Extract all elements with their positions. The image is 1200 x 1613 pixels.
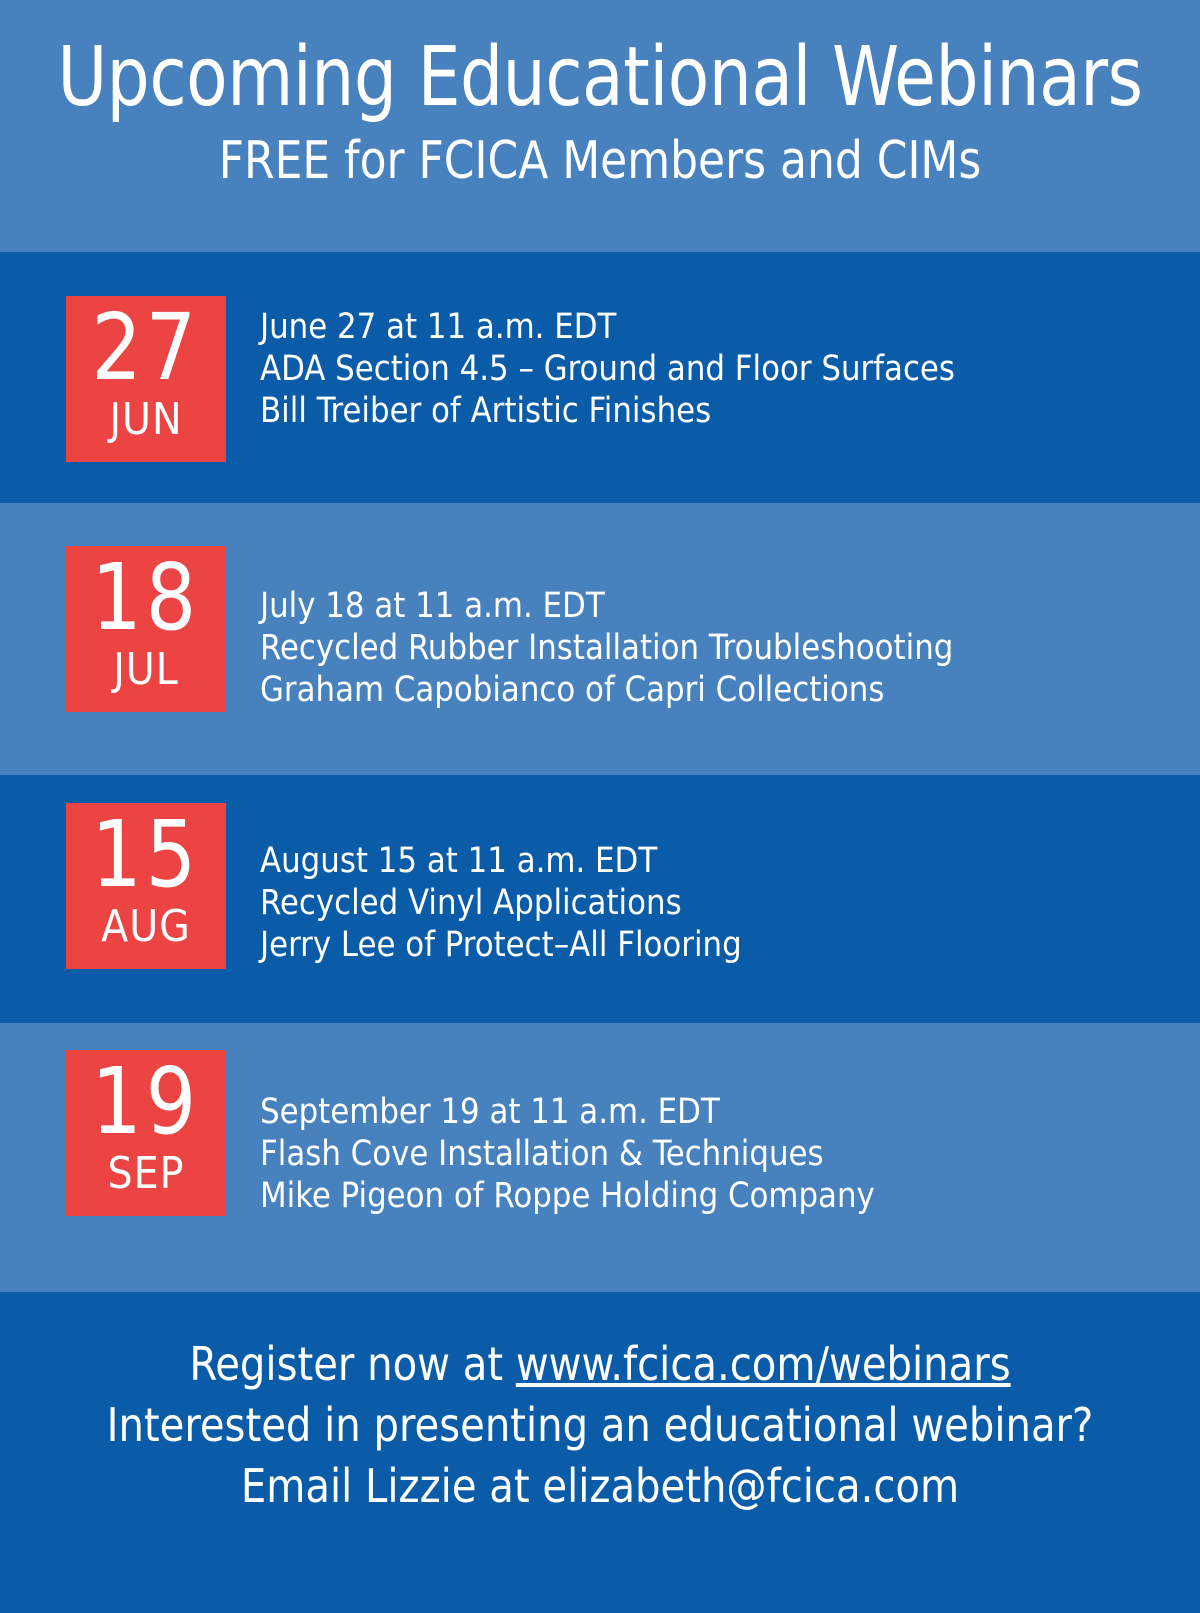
webinar-presenter: Jerry Lee of Protect–All Flooring <box>260 924 1162 966</box>
webinar-datetime: August 15 at 11 a.m. EDT <box>260 840 1162 882</box>
webinars-url-link[interactable]: www.fcica.com/webinars <box>516 1337 1011 1391</box>
date-day: 27 <box>92 302 201 394</box>
webinar-details: July 18 at 11 a.m. EDT Recycled Rubber I… <box>226 503 1200 711</box>
register-prefix: Register now at <box>189 1337 515 1391</box>
webinar-poster: Upcoming Educational Webinars FREE for F… <box>0 0 1200 1613</box>
webinar-topic: ADA Section 4.5 – Ground and Floor Surfa… <box>260 348 1162 390</box>
page-title: Upcoming Educational Webinars <box>48 36 1152 120</box>
date-month: JUL <box>113 648 179 692</box>
webinar-row[interactable]: 18 JUL July 18 at 11 a.m. EDT Recycled R… <box>0 503 1200 775</box>
date-month: SEP <box>107 1152 184 1196</box>
webinar-presenter: Mike Pigeon of Roppe Holding Company <box>260 1175 1162 1217</box>
date-month: AUG <box>101 905 191 949</box>
webinar-row[interactable]: 19 SEP September 19 at 11 a.m. EDT Flash… <box>0 1023 1200 1292</box>
date-badge: 18 JUL <box>66 546 226 712</box>
date-day: 15 <box>92 809 201 901</box>
presenting-interest-line: Interested in presenting an educational … <box>18 1395 1182 1456</box>
webinar-topic: Recycled Rubber Installation Troubleshoo… <box>260 627 1162 669</box>
contact-email-line: Email Lizzie at elizabeth@fcica.com <box>18 1456 1182 1517</box>
webinar-details: June 27 at 11 a.m. EDT ADA Section 4.5 –… <box>226 252 1200 432</box>
webinar-datetime: July 18 at 11 a.m. EDT <box>260 585 1162 627</box>
webinar-presenter: Graham Capobianco of Capri Collections <box>260 669 1162 711</box>
date-badge: 15 AUG <box>66 803 226 969</box>
webinar-topic: Recycled Vinyl Applications <box>260 882 1162 924</box>
webinar-row[interactable]: 27 JUN June 27 at 11 a.m. EDT ADA Sectio… <box>0 252 1200 503</box>
date-day: 18 <box>92 552 201 644</box>
webinar-datetime: September 19 at 11 a.m. EDT <box>260 1091 1162 1133</box>
poster-header: Upcoming Educational Webinars FREE for F… <box>0 0 1200 252</box>
webinar-presenter: Bill Treiber of Artistic Finishes <box>260 390 1162 432</box>
webinar-datetime: June 27 at 11 a.m. EDT <box>260 306 1162 348</box>
webinar-topic: Flash Cove Installation & Techniques <box>260 1133 1162 1175</box>
register-line: Register now at www.fcica.com/webinars <box>18 1334 1182 1395</box>
poster-footer: Register now at www.fcica.com/webinars I… <box>0 1292 1200 1613</box>
webinar-row[interactable]: 15 AUG August 15 at 11 a.m. EDT Recycled… <box>0 775 1200 1023</box>
date-badge: 27 JUN <box>66 296 226 462</box>
date-day: 19 <box>92 1056 201 1148</box>
webinar-list: 27 JUN June 27 at 11 a.m. EDT ADA Sectio… <box>0 252 1200 1292</box>
webinar-details: September 19 at 11 a.m. EDT Flash Cove I… <box>226 1023 1200 1217</box>
webinar-details: August 15 at 11 a.m. EDT Recycled Vinyl … <box>226 775 1200 966</box>
page-subtitle: FREE for FCICA Members and CIMs <box>36 134 1164 189</box>
date-month: JUN <box>109 398 182 442</box>
date-badge: 19 SEP <box>66 1050 226 1216</box>
